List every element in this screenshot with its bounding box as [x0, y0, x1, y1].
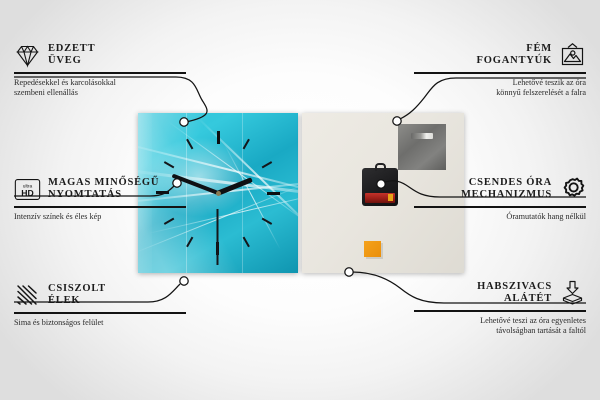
- feature-desc: Lehetővé teszi az óra egyenletes távolsá…: [414, 316, 586, 337]
- feature-desc: Lehetővé teszik az óra könnyű felszerelé…: [414, 78, 586, 99]
- ultra-hd-icon: ultra HD: [14, 176, 41, 203]
- divider: [14, 72, 186, 74]
- diamond-icon: [14, 42, 41, 69]
- divider: [414, 310, 586, 312]
- feature-edzett-uveg: EDZETT ÜVEG Repedésekkel és karcolásokka…: [14, 38, 186, 99]
- foam-pad: [364, 241, 381, 257]
- svg-text:HD: HD: [21, 188, 33, 198]
- feature-csendes-ora-mechanizmus: CSENDES ÓRA MECHANIZMUS Óramutatók hang …: [414, 172, 586, 222]
- feature-title: MAGAS MINŐSÉGŰ NYOMTATÁS: [48, 177, 159, 202]
- product-infographic: EDZETT ÜVEG Repedésekkel és karcolásokka…: [0, 0, 600, 400]
- feature-desc: Intenzív színek és éles kép: [14, 212, 186, 223]
- mechanism-hanger-loop: [375, 163, 386, 171]
- picture-hanger-icon: [559, 42, 586, 69]
- feature-title: CSENDES ÓRA MECHANIZMUS: [461, 177, 552, 202]
- divider: [414, 72, 586, 74]
- divider: [14, 206, 186, 208]
- gear-icon: [559, 176, 586, 203]
- quartz-clock-mechanism: [362, 168, 398, 206]
- feature-desc: Sima és biztonságos felület: [14, 318, 186, 329]
- feature-desc: Óramutatók hang nélkül: [414, 212, 586, 223]
- feature-desc: Repedésekkel és karcolásokkal szembeni e…: [14, 78, 186, 99]
- divider: [14, 312, 186, 314]
- clock-center-cap: [216, 191, 221, 196]
- feature-title: FÉM FOGANTYÚK: [477, 43, 552, 68]
- feature-title: HABSZIVACS ALÁTÉT: [477, 281, 552, 306]
- divider: [414, 206, 586, 208]
- foam-pad-icon: [559, 280, 586, 307]
- feature-fem-fogantyuk: FÉM FOGANTYÚK Lehetővé teszik az óra kön…: [414, 38, 586, 99]
- feature-title: CSISZOLT ÉLEK: [48, 283, 106, 308]
- feature-magas-minosegu-nyomtatas: ultra HD MAGAS MINŐSÉGŰ NYOMTATÁS Intenz…: [14, 172, 186, 222]
- feature-title: EDZETT ÜVEG: [48, 43, 95, 68]
- feature-habszivacs-alatet: HABSZIVACS ALÁTÉT Lehetővé teszi az óra …: [414, 276, 586, 337]
- polished-edges-icon: [14, 282, 41, 309]
- battery: [365, 193, 395, 203]
- metal-hanger-plate: [398, 124, 446, 170]
- feature-csiszolt-elek: CSISZOLT ÉLEK Sima és biztonságos felüle…: [14, 278, 186, 328]
